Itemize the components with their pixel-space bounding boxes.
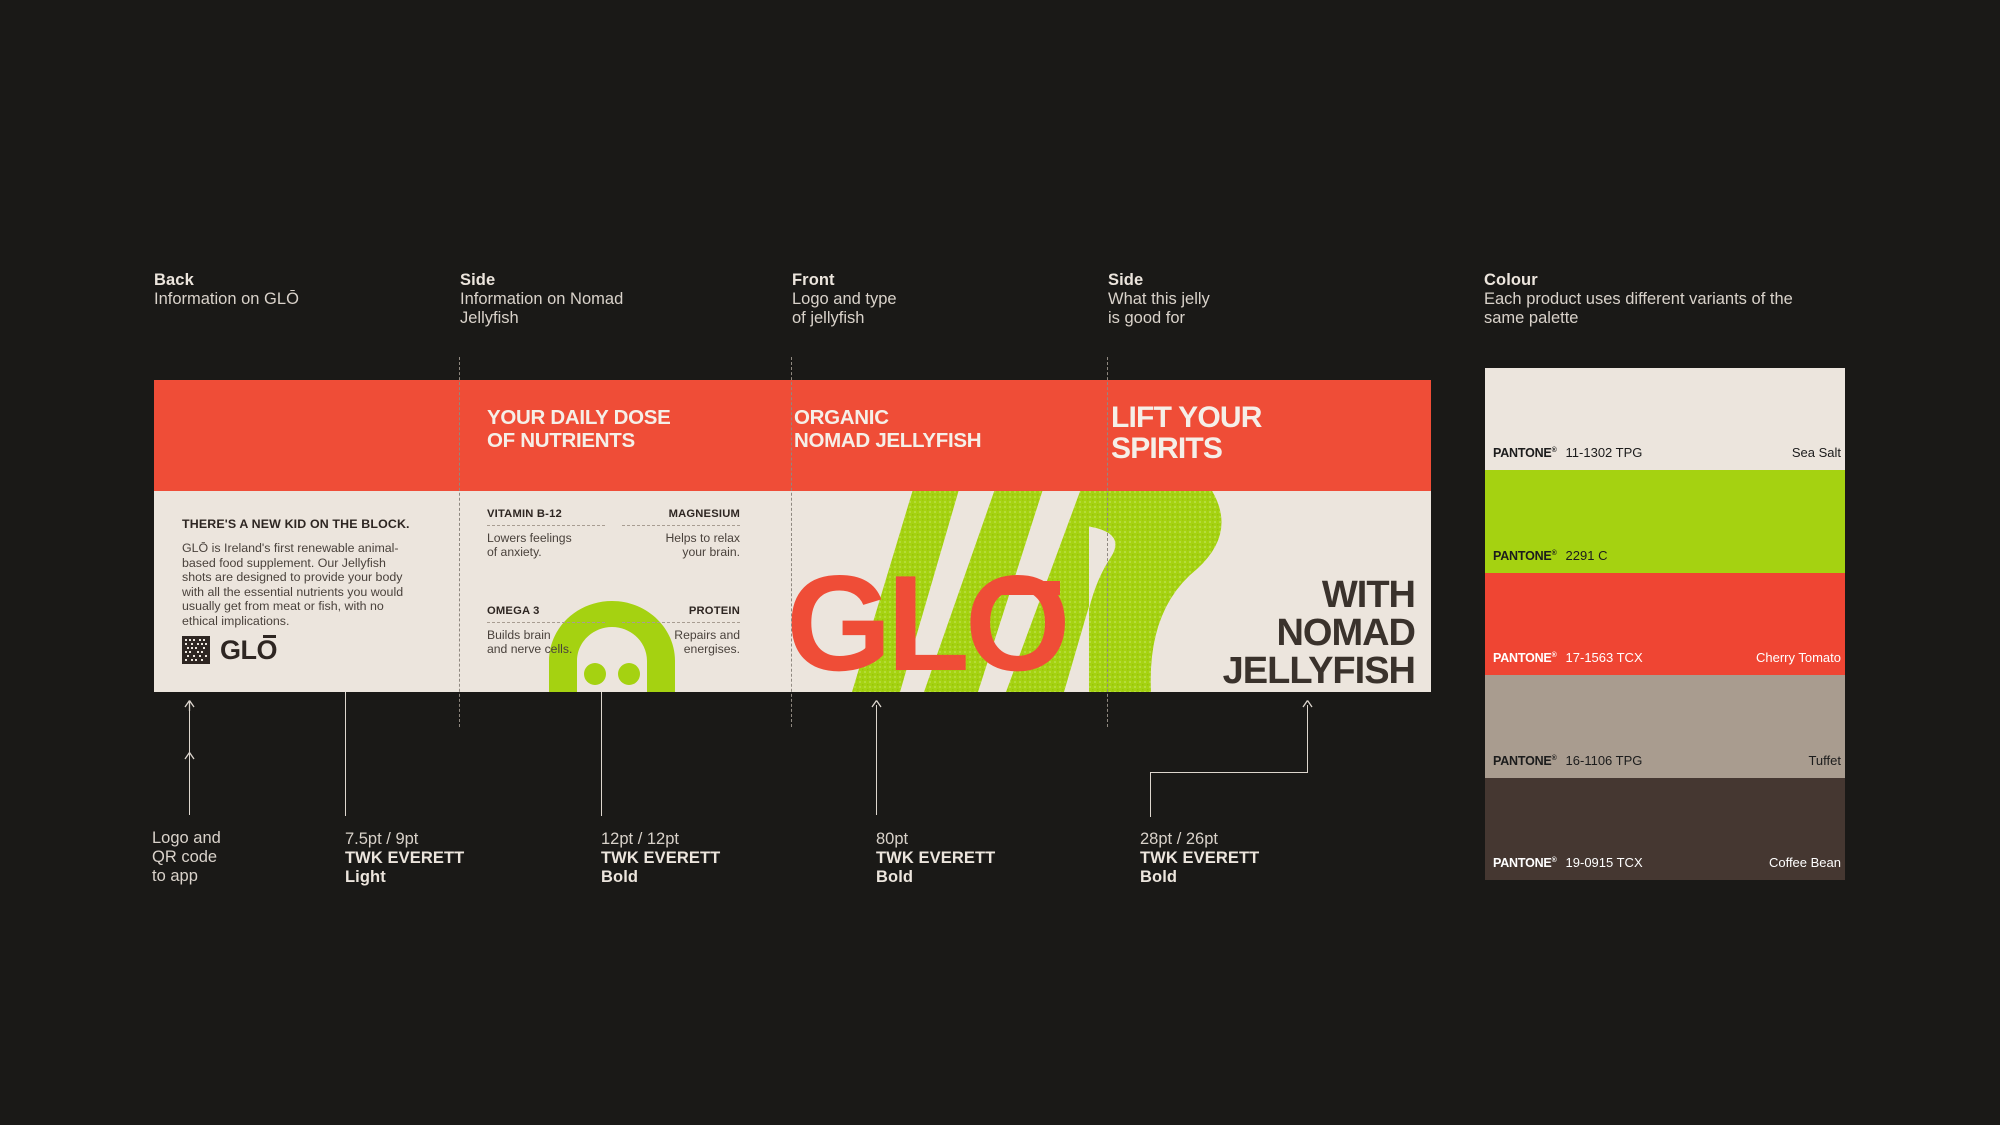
section-label-side-nutrients: Side Information on NomadJellyfish xyxy=(460,271,623,328)
panel-side-body: WITHNOMADJELLYFISH xyxy=(1089,491,1431,692)
nutrient-name: PROTEIN xyxy=(622,605,740,618)
pantone-swatch: PANTONE®19-0915 TCXCoffee Bean xyxy=(1485,778,1845,880)
panel-back-colour-band xyxy=(154,380,459,491)
leader-line-2 xyxy=(345,692,346,816)
section-subtitle: Logo and typeof jellyfish xyxy=(792,290,897,328)
pantone-name: Cherry Tomato xyxy=(1756,650,1841,665)
packaging-dieline: THERE'S A NEW KID ON THE BLOCK. GLŌ is I… xyxy=(154,380,1431,692)
nutrient-desc: Builds brainand nerve cells. xyxy=(487,628,605,656)
front-logo: GLO xyxy=(786,561,1066,686)
pantone-code: 16-1106 TPG xyxy=(1566,753,1643,768)
section-label-side-benefit: Side What this jellyis good for xyxy=(1108,271,1210,328)
nutrients-band-title: YOUR DAILY DOSEOF NUTRIENTS xyxy=(487,406,738,452)
arrow-head-up-4 xyxy=(870,700,883,711)
design-presentation-board: Back Information on GLŌ Side Information… xyxy=(0,0,2000,1125)
dieline-divider-3 xyxy=(1107,357,1108,727)
macron-bar xyxy=(263,635,276,638)
section-label-front: Front Logo and typeof jellyfish xyxy=(792,271,897,328)
annotation-type-spec-1: 7.5pt / 9pt TWK EVERETT Light xyxy=(345,830,575,887)
annotation-type-spec-3: 80pt TWK EVERETT Bold xyxy=(876,830,1106,887)
macron-bar xyxy=(998,581,1060,595)
pantone-name: Tuffet xyxy=(1808,753,1841,768)
nutrient-desc: Helps to relaxyour brain. xyxy=(622,531,740,559)
annotation-family: TWK EVERETT xyxy=(876,849,1106,868)
section-subtitle: Information on GLŌ xyxy=(154,290,299,309)
section-subtitle: Each product uses different variants of … xyxy=(1484,290,1884,328)
annotation-weight: Bold xyxy=(1140,868,1370,887)
pantone-name: Sea Salt xyxy=(1792,445,1841,460)
panel-front: GLO ORGANICNOMAD JELLYFISH xyxy=(764,380,1089,692)
nutrient-name: MAGNESIUM xyxy=(622,508,740,521)
leader-line-5-horizontal xyxy=(1150,772,1308,773)
annotation-type-spec-2: 12pt / 12pt TWK EVERETT Bold xyxy=(601,830,831,887)
panel-side-nutrients: YOUR DAILY DOSEOF NUTRIENTS xyxy=(459,380,764,692)
panel-nutrients-body: VITAMIN B-12 Lowers feelingsof anxiety. … xyxy=(459,491,764,692)
annotation-type-spec-4: 28pt / 26pt TWK EVERETT Bold xyxy=(1140,830,1370,887)
leader-line-4 xyxy=(876,705,877,815)
pantone-swatch-stack: PANTONE®11-1302 TPGSea SaltPANTONE®2291 … xyxy=(1485,368,1845,880)
nutrient-rule xyxy=(487,622,605,623)
annotation-weight: Bold xyxy=(601,868,831,887)
panel-nutrients-colour-band: YOUR DAILY DOSEOF NUTRIENTS xyxy=(459,380,764,491)
panel-front-colour-band: ORGANICNOMAD JELLYFISH xyxy=(764,380,1089,491)
annotation-family: TWK EVERETT xyxy=(1140,849,1370,868)
panel-side-colour-band: LIFT YOURSPIRITS xyxy=(1089,380,1431,491)
section-title: Side xyxy=(1108,271,1210,290)
side-band-title: LIFT YOURSPIRITS xyxy=(1111,402,1431,464)
pantone-code: 11-1302 TPG xyxy=(1566,445,1643,460)
nutrient-name: VITAMIN B-12 xyxy=(487,508,605,521)
nutrient-vitamin-b12: VITAMIN B-12 Lowers feelingsof anxiety. xyxy=(487,508,605,559)
pantone-brand: PANTONE® xyxy=(1493,651,1557,665)
annotation-weight: Light xyxy=(345,868,575,887)
pantone-swatch: PANTONE®2291 C xyxy=(1485,470,1845,572)
annotation-size: 28pt / 26pt xyxy=(1140,830,1370,849)
panel-front-body: GLO xyxy=(764,491,1089,692)
back-footer: GLO xyxy=(182,636,277,664)
arrow-head-up-5 xyxy=(1301,700,1314,711)
nutrient-desc: Repairs andenergises. xyxy=(622,628,740,656)
annotation-size: 7.5pt / 9pt xyxy=(345,830,575,849)
nutrient-desc: Lowers feelingsof anxiety. xyxy=(487,531,605,559)
pantone-name: Coffee Bean xyxy=(1769,855,1841,870)
annotation-weight: Bold xyxy=(876,868,1106,887)
panel-side-benefit: WITHNOMADJELLYFISH LIFT YOURSPIRITS xyxy=(1089,380,1431,692)
pantone-code: 19-0915 TCX xyxy=(1566,855,1643,870)
back-logo: GLO xyxy=(220,637,277,664)
annotation-family: TWK EVERETT xyxy=(601,849,831,868)
pantone-brand: PANTONE® xyxy=(1493,549,1557,563)
annotation-size: 12pt / 12pt xyxy=(601,830,831,849)
section-title: Front xyxy=(792,271,897,290)
section-label-colour: Colour Each product uses different varia… xyxy=(1484,271,1884,328)
nutrient-protein: PROTEIN Repairs andenergises. xyxy=(622,605,740,656)
qr-code-icon xyxy=(182,636,210,664)
leader-line-3 xyxy=(601,692,602,816)
section-title: Colour xyxy=(1484,271,1884,290)
section-subtitle: What this jellyis good for xyxy=(1108,290,1210,328)
pantone-brand: PANTONE® xyxy=(1493,446,1557,460)
nutrient-magnesium: MAGNESIUM Helps to relaxyour brain. xyxy=(622,508,740,559)
panel-back: THERE'S A NEW KID ON THE BLOCK. GLŌ is I… xyxy=(154,380,459,692)
pantone-brand: PANTONE® xyxy=(1493,856,1557,870)
section-title: Back xyxy=(154,271,299,290)
annotation-size: 80pt xyxy=(876,830,1106,849)
pantone-brand: PANTONE® xyxy=(1493,754,1557,768)
pantone-code: 2291 C xyxy=(1566,548,1608,563)
leader-line-5-drop xyxy=(1150,772,1151,817)
arrow-head-up-1a xyxy=(183,700,196,711)
nutrient-name: OMEGA 3 xyxy=(487,605,605,618)
back-body-copy: GLŌ is Ireland's first renewable animal-… xyxy=(182,541,414,629)
section-title: Side xyxy=(460,271,623,290)
nutrient-rule xyxy=(622,525,740,526)
panel-back-body: THERE'S A NEW KID ON THE BLOCK. GLŌ is I… xyxy=(154,491,459,692)
nutrient-rule xyxy=(487,525,605,526)
back-logo-text: GLO xyxy=(220,635,277,665)
nutrient-rule xyxy=(622,622,740,623)
back-heading: THERE'S A NEW KID ON THE BLOCK. xyxy=(182,517,431,532)
side-claim-text: WITHNOMADJELLYFISH xyxy=(1223,576,1415,690)
dieline-divider-1 xyxy=(459,357,460,727)
pantone-swatch: PANTONE®11-1302 TPGSea Salt xyxy=(1485,368,1845,470)
front-band-title: ORGANICNOMAD JELLYFISH xyxy=(794,406,1089,452)
section-label-back: Back Information on GLŌ xyxy=(154,271,299,309)
nutrient-omega-3: OMEGA 3 Builds brainand nerve cells. xyxy=(487,605,605,656)
section-subtitle: Information on NomadJellyfish xyxy=(460,290,623,328)
front-logo-text: GLO xyxy=(786,547,1066,692)
leader-line-5-vertical xyxy=(1307,705,1308,773)
arrow-head-up-1b xyxy=(183,752,196,763)
pantone-swatch: PANTONE®16-1106 TPGTuffet xyxy=(1485,675,1845,777)
pantone-code: 17-1563 TCX xyxy=(1566,650,1643,665)
annotation-family: TWK EVERETT xyxy=(345,849,575,868)
pantone-swatch: PANTONE®17-1563 TCXCherry Tomato xyxy=(1485,573,1845,675)
dieline-divider-2 xyxy=(791,357,792,727)
